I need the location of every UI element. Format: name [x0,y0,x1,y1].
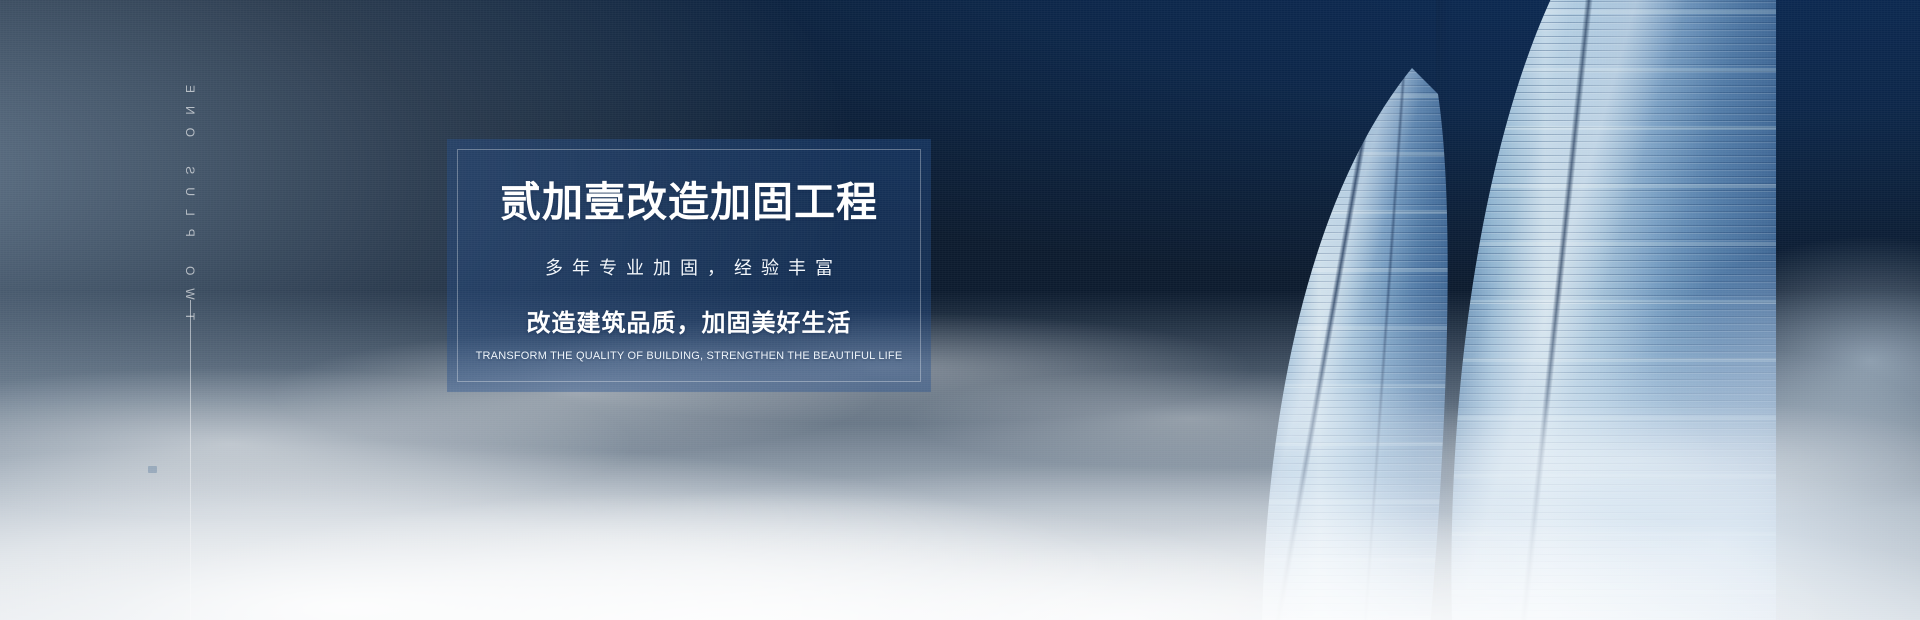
hero-banner: TWO PLUS ONE 贰加壹改造加固工程 多年专业加固，经验丰富 改造建筑品… [0,0,1920,620]
brand-vertical-label: TWO PLUS ONE [183,72,197,320]
brand-small-mark-icon [148,466,157,473]
brand-vertical-rule [190,300,191,620]
hero-tagline: 改造建筑品质，加固美好生活 [527,303,852,338]
hero-text-panel: 贰加壹改造加固工程 多年专业加固，经验丰富 改造建筑品质，加固美好生活 TRAN… [447,139,931,392]
hero-english-tagline: TRANSFORM THE QUALITY OF BUILDING, STREN… [476,350,903,362]
hero-subtitle: 多年专业加固，经验丰富 [536,254,842,280]
brand-vertical-text: TWO PLUS ONE [178,72,202,302]
hero-title: 贰加壹改造加固工程 [500,181,878,224]
hero-panel-content: 贰加壹改造加固工程 多年专业加固，经验丰富 改造建筑品质，加固美好生活 TRAN… [447,139,931,392]
cloud-wisps [0,200,1920,620]
